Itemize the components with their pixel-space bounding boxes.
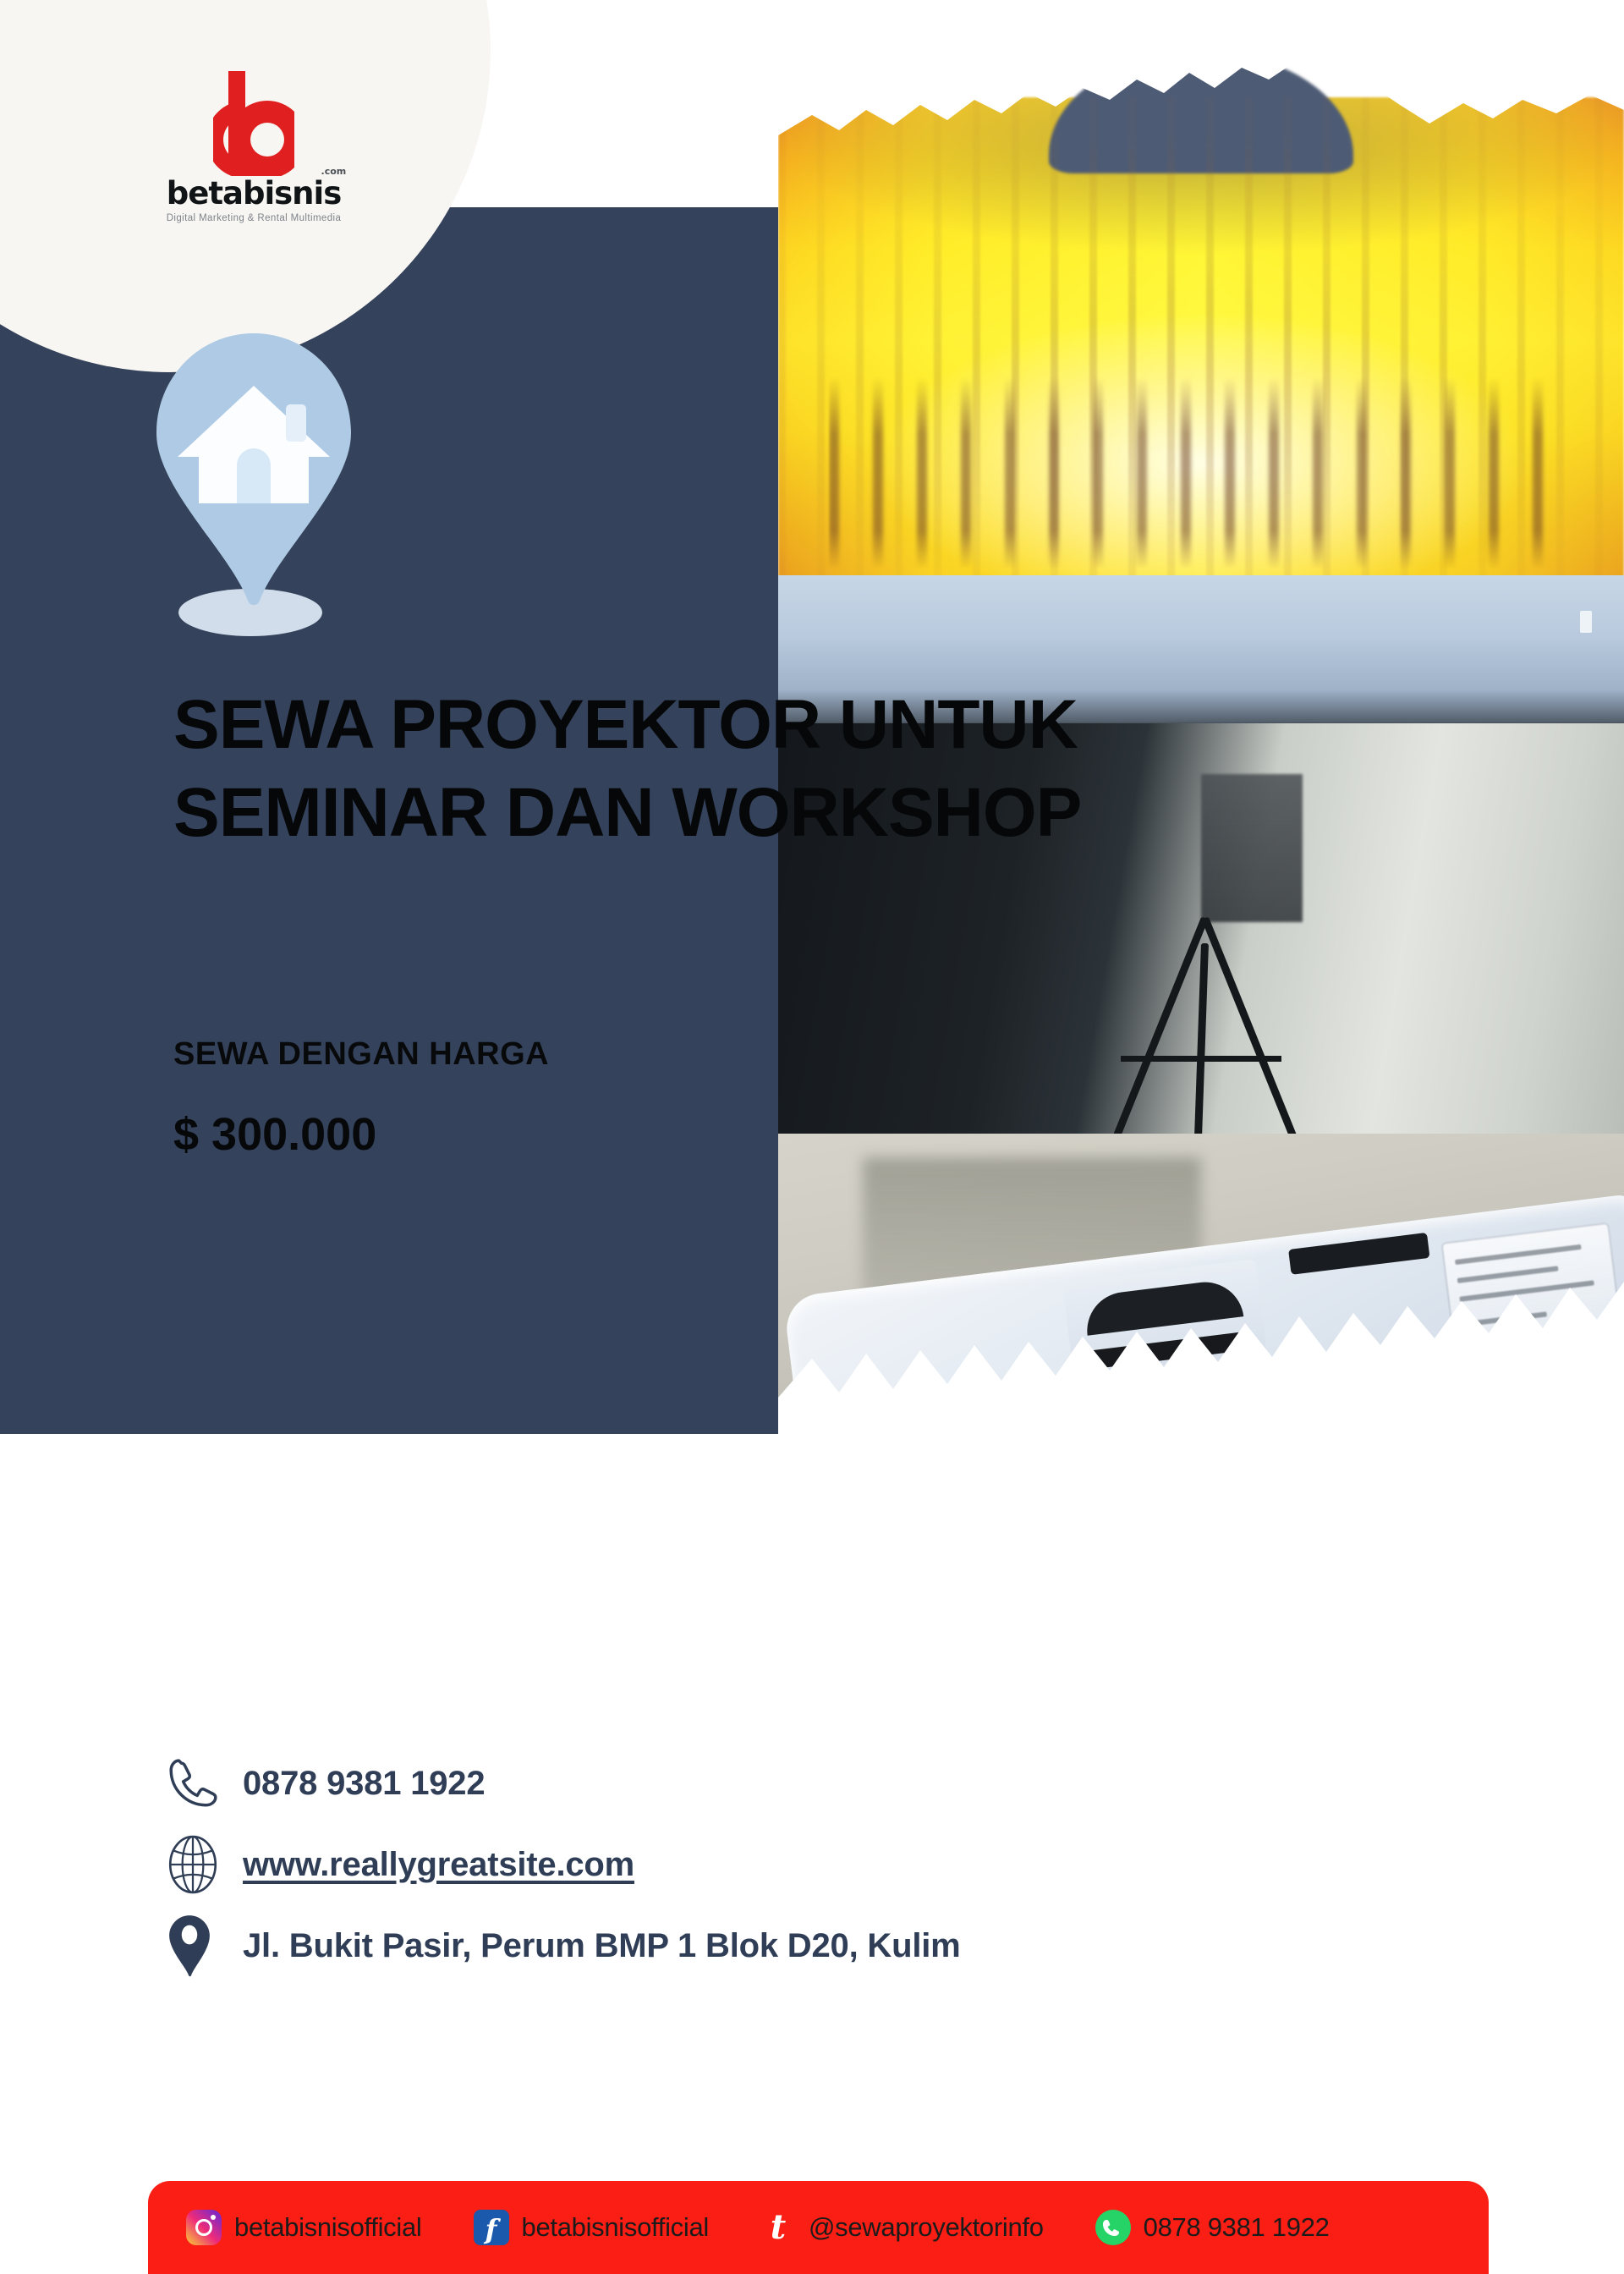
projector-control-panel [1185,1551,1519,1716]
phone-icon [165,1755,243,1811]
brand-wordmark-text: betabisnis [167,175,341,211]
price-label: SEWA DENGAN HARGA [173,1036,549,1073]
brand-logo: betabisnis .com Digital Marketing & Rent… [144,68,364,237]
projector-body: EPSON [783,1193,1624,1751]
screen-highlight [1580,611,1592,633]
footer-item-instagram[interactable]: betabisnisofficial [185,2209,422,2246]
facebook-handle: betabisnisofficial [522,2212,710,2243]
epson-projector: EPSON [778,1141,1624,1751]
brand-tld: .com [321,167,347,176]
contact-row-address[interactable]: Jl. Bukit Pasir, Perum BMP 1 Blok D20, K… [165,1905,1349,1986]
home-pin-graphic [148,330,359,643]
home-map-pin-icon [148,330,359,609]
projected-screen-image [778,97,1624,605]
whatsapp-number: 0878 9381 1922 [1144,2212,1330,2243]
projector-slot [1288,1233,1429,1275]
contact-row-phone[interactable]: 0878 9381 1922 [165,1743,1349,1824]
projector-power-led [1092,1655,1145,1714]
globe-icon [165,1834,243,1895]
projector-vent [1062,1259,1268,1383]
hall-audience [829,376,1573,569]
projector-status-led [1034,1684,1055,1705]
contact-website-link[interactable]: www.reallygreatsite.com [243,1846,634,1884]
footer-item-tumblr[interactable]: t @sewaproyektorinfo [760,2209,1044,2246]
footer-item-facebook[interactable]: f betabisnisofficial [473,2209,710,2246]
projector-sticker [1440,1222,1624,1403]
footer-item-whatsapp[interactable]: 0878 9381 1922 [1095,2209,1330,2246]
tumblr-icon: t [760,2209,797,2246]
tumblr-handle: @sewaproyektorinfo [809,2212,1044,2243]
betabisnis-b-logo-icon [213,68,294,176]
instagram-handle: betabisnisofficial [234,2212,422,2243]
projector-brand-text: EPSON [1276,1436,1429,1500]
instagram-icon [185,2209,222,2246]
contact-phone-label: 0878 9381 1922 [243,1765,485,1803]
whatsapp-icon [1095,2209,1132,2246]
brand-wordmark: betabisnis .com [167,178,341,209]
facebook-icon: f [473,2209,510,2246]
social-footer-bar: betabisnisofficial f betabisnisofficial … [148,2181,1489,2274]
page-title: SEWA PROYEKTOR UNTUK SEMINAR DAN WORKSHO… [173,681,1442,857]
contact-list: 0878 9381 1922 www.reallygreatsite.com J… [165,1743,1349,1986]
brand-tagline: Digital Marketing & Rental Multimedia [167,213,342,223]
contact-address-label: Jl. Bukit Pasir, Perum BMP 1 Blok D20, K… [243,1927,961,1965]
photo-inner: EPSON [778,51,1624,1751]
price-value: $ 300.000 [173,1108,376,1161]
contact-row-website[interactable]: www.reallygreatsite.com [165,1824,1349,1905]
tripod-brace [1121,1056,1281,1062]
location-pin-icon [165,1914,243,1978]
projector-photo-collage: EPSON [778,51,1624,1751]
